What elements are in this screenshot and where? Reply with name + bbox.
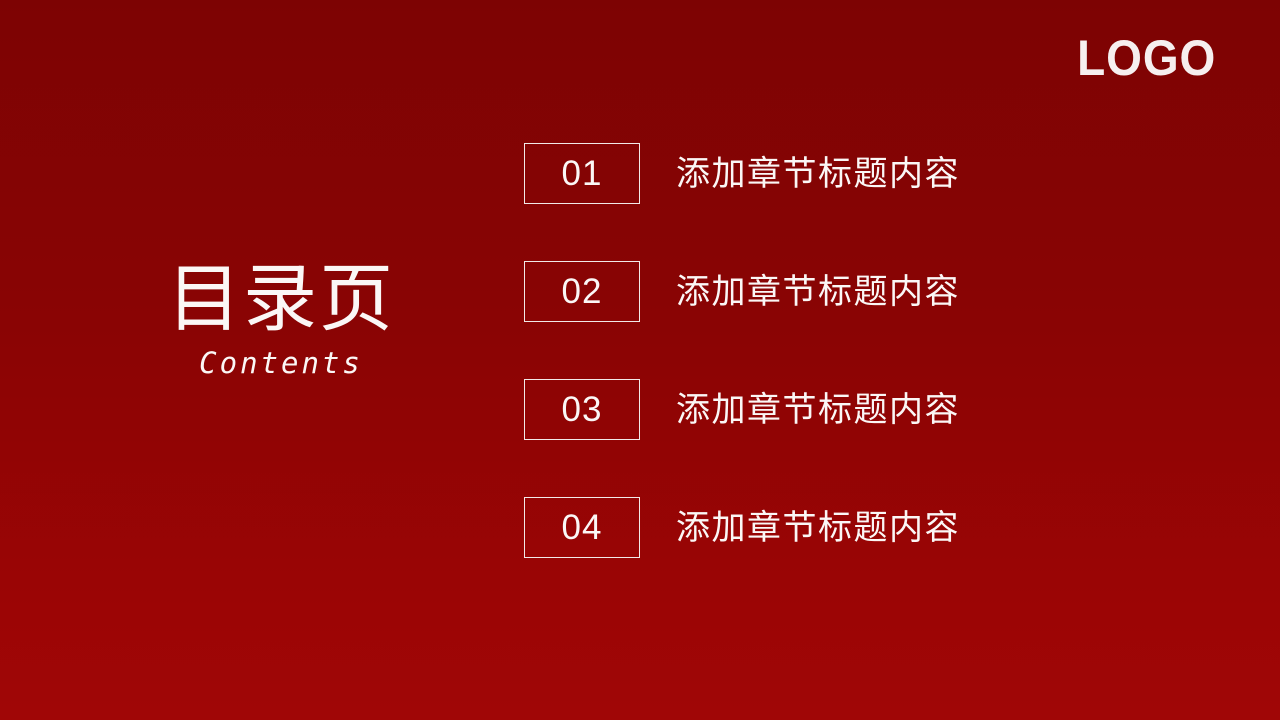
page-title: 目录页 <box>166 262 396 336</box>
page-subtitle: Contents <box>166 346 396 380</box>
section-title-01: 添加章节标题内容 <box>676 157 960 191</box>
section-title-02: 添加章节标题内容 <box>676 275 960 309</box>
presentation-slide: LOGO 目录页 Contents 01 添加章节标题内容 02 添加章节标题内… <box>0 0 1280 720</box>
contents-item-01[interactable]: 01 添加章节标题内容 <box>524 143 1144 204</box>
section-title-04: 添加章节标题内容 <box>676 511 960 545</box>
number-label: 04 <box>562 510 603 545</box>
section-title-03: 添加章节标题内容 <box>676 393 960 427</box>
number-label: 03 <box>562 392 603 427</box>
number-label: 02 <box>562 274 603 309</box>
title-block: 目录页 Contents <box>166 262 396 380</box>
number-box-02: 02 <box>524 261 640 322</box>
number-box-01: 01 <box>524 143 640 204</box>
number-box-04: 04 <box>524 497 640 558</box>
contents-item-04[interactable]: 04 添加章节标题内容 <box>524 497 1144 558</box>
logo-placeholder: LOGO <box>1077 33 1216 83</box>
number-label: 01 <box>562 156 603 191</box>
contents-item-02[interactable]: 02 添加章节标题内容 <box>524 261 1144 322</box>
contents-list: 01 添加章节标题内容 02 添加章节标题内容 03 添加章节标题内容 04 添… <box>524 143 1144 558</box>
contents-item-03[interactable]: 03 添加章节标题内容 <box>524 379 1144 440</box>
number-box-03: 03 <box>524 379 640 440</box>
